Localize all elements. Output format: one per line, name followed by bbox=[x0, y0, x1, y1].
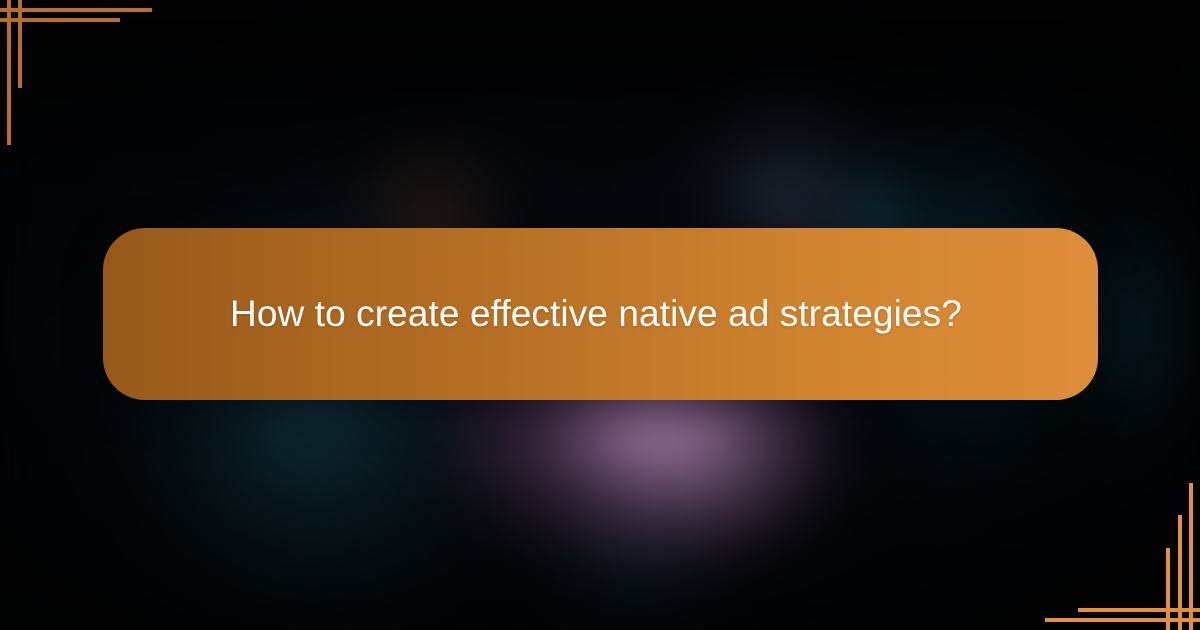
frame-line bbox=[0, 8, 152, 12]
banner-title-text: How to create effective native ad strate… bbox=[230, 293, 962, 335]
frame-line bbox=[1045, 618, 1200, 622]
corner-frame-top-left bbox=[0, 0, 200, 200]
title-banner: How to create effective native ad strate… bbox=[103, 228, 1098, 400]
frame-line bbox=[1166, 548, 1170, 630]
frame-line bbox=[1178, 515, 1182, 630]
frame-line bbox=[18, 0, 22, 88]
corner-frame-bottom-right bbox=[1000, 430, 1200, 630]
frame-line bbox=[7, 0, 11, 145]
social-card-canvas: How to create effective native ad strate… bbox=[0, 0, 1200, 630]
frame-line bbox=[1189, 483, 1193, 630]
